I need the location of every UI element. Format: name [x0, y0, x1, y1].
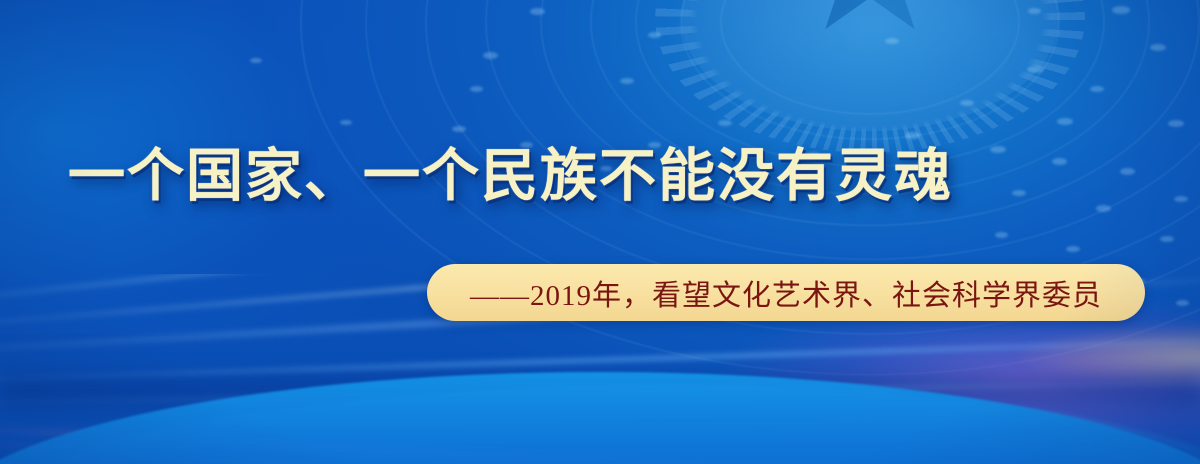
bokeh-dot-1 [885, 38, 899, 44]
bokeh-dot-11 [483, 52, 498, 59]
bokeh-dot-0 [1112, 6, 1130, 14]
bokeh-dot-18 [905, 132, 920, 139]
bokeh-dot-5 [1090, 86, 1104, 92]
bokeh-dot-10 [620, 78, 634, 84]
bokeh-dot-22 [1174, 196, 1188, 202]
bokeh-dot-12 [470, 86, 483, 92]
bokeh-dot-7 [1168, 120, 1184, 127]
bokeh-dot-23 [1096, 205, 1111, 212]
banner-hero: 一个国家、一个民族不能没有灵魂 ——2019年，看望文化艺术界、社会科学界委员 [0, 0, 1200, 464]
subtitle-pill: ——2019年，看望文化艺术界、社会科学界委员 [427, 264, 1145, 321]
bokeh-dot-34 [340, 120, 352, 125]
bokeh-dot-31 [995, 232, 1008, 238]
banner-headline: 一个国家、一个民族不能没有灵魂 [68, 146, 953, 208]
bokeh-dot-21 [1120, 168, 1135, 175]
bokeh-dot-36 [1028, 8, 1041, 14]
bokeh-dot-30 [1066, 246, 1080, 252]
bokeh-dot-3 [530, 8, 545, 15]
bokeh-dot-19 [990, 146, 1006, 153]
bokeh-dot-35 [250, 58, 262, 63]
bokeh-dot-2 [648, 32, 661, 38]
bokeh-dot-6 [1150, 44, 1166, 51]
subtitle-text: ——2019年，看望文化艺术界、社会科学界委员 [470, 272, 1102, 314]
bokeh-dot-13 [452, 126, 466, 132]
bokeh-dot-8 [1057, 118, 1073, 125]
bokeh-dot-9 [960, 100, 974, 106]
bokeh-dot-24 [1012, 190, 1026, 196]
bokeh-dot-4 [1027, 66, 1044, 73]
bokeh-dot-16 [718, 120, 732, 126]
bokeh-dot-20 [1052, 158, 1067, 165]
bokeh-dot-29 [1160, 236, 1174, 242]
